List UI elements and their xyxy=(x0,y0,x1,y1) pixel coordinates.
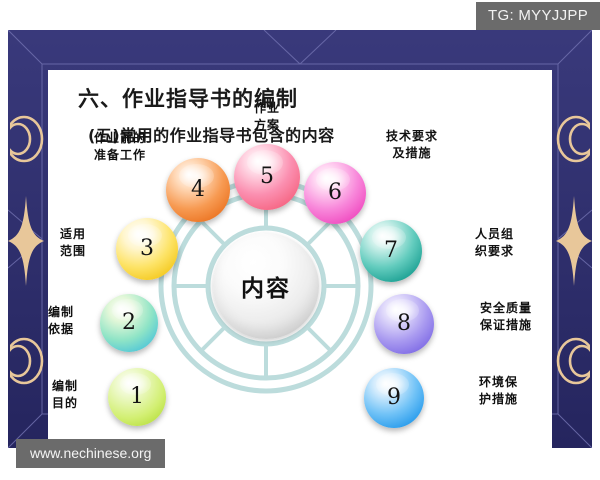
decorative-frame: 六、作业指导书的编制 (五)常用的作业指导书包含的内容 xyxy=(8,30,592,448)
node-sphere-3[interactable]: 3 xyxy=(116,218,178,280)
node-number-8: 8 xyxy=(397,313,411,335)
node-sphere-8[interactable]: 8 xyxy=(374,294,434,354)
node-number-2: 2 xyxy=(122,312,136,334)
ornament-oval-right-icon xyxy=(556,100,590,178)
node-sphere-5[interactable]: 5 xyxy=(234,144,300,210)
node-sphere-4[interactable]: 4 xyxy=(166,158,230,222)
ornament-oval-right-lower-icon xyxy=(556,322,590,400)
node-label-7: 人员组 织要求 xyxy=(434,226,514,261)
node-sphere-9[interactable]: 9 xyxy=(364,368,424,428)
node-label-8: 安全质量 保证措施 xyxy=(444,300,532,335)
node-number-1: 1 xyxy=(130,386,144,408)
node-number-9: 9 xyxy=(387,387,401,409)
node-number-4: 4 xyxy=(191,179,205,201)
node-sphere-1[interactable]: 1 xyxy=(108,368,166,426)
ornament-oval-left-lower-icon xyxy=(10,322,44,400)
node-sphere-6[interactable]: 6 xyxy=(304,162,366,224)
hub-center: 内容 xyxy=(213,233,319,339)
node-number-3: 3 xyxy=(140,238,154,260)
ornament-oval-left-icon xyxy=(10,100,44,178)
node-label-1: 编制 目的 xyxy=(52,378,104,413)
node-sphere-7[interactable]: 7 xyxy=(360,220,422,282)
node-label-3: 适用 范围 xyxy=(60,226,110,261)
slide-content: 六、作业指导书的编制 (五)常用的作业指导书包含的内容 xyxy=(48,70,552,448)
ornament-sparkle-right-icon xyxy=(556,196,592,286)
node-sphere-2[interactable]: 2 xyxy=(100,294,158,352)
node-number-7: 7 xyxy=(384,240,398,262)
ornament-sparkle-left-icon xyxy=(8,196,44,286)
node-label-9: 环境保 护措施 xyxy=(436,374,518,409)
site-watermark: www.nechinese.org xyxy=(16,439,165,468)
content-wheel-diagram: 内容 1 编制 目的 2 编制 依据 3 适用 范围 xyxy=(48,142,552,448)
node-number-5: 5 xyxy=(260,166,274,188)
slide-screenshot: TG: MYYJJPP xyxy=(0,0,600,480)
node-label-5: 作业 方案 xyxy=(228,100,306,135)
tg-watermark: TG: MYYJJPP xyxy=(476,2,600,30)
node-label-6: 技术要求 及措施 xyxy=(366,128,458,163)
node-number-6: 6 xyxy=(328,182,342,204)
hub-label: 内容 xyxy=(241,269,291,303)
node-label-4: 作业前的 准备工作 xyxy=(72,130,168,165)
node-label-2: 编制 依据 xyxy=(48,304,96,339)
